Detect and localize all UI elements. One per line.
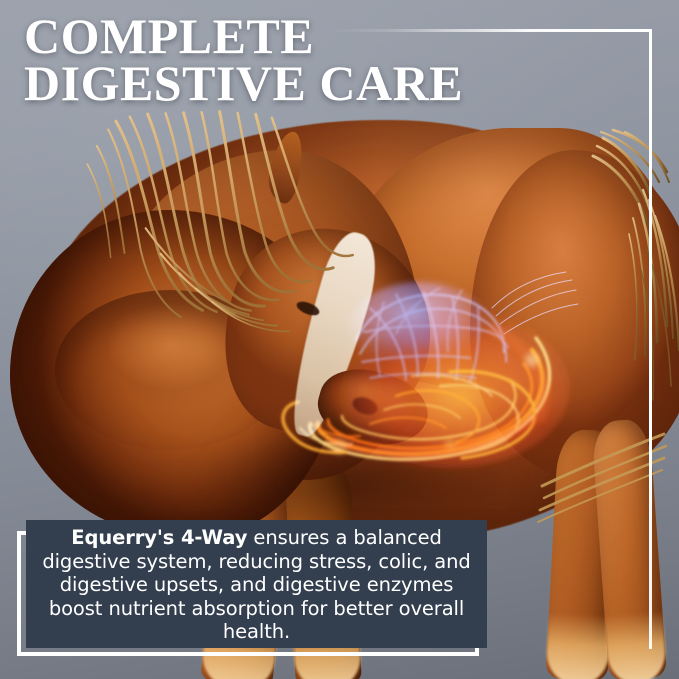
page-title-line-2: DIGESTIVE CARE bbox=[24, 60, 584, 107]
advertisement-canvas: COMPLETE DIGESTIVE CARE Equerry's 4-Way … bbox=[0, 0, 679, 679]
page-title-line-1: COMPLETE bbox=[24, 13, 584, 60]
brand-name: Equerry's 4-Way bbox=[71, 526, 247, 549]
right-accent-rule bbox=[649, 29, 652, 649]
page-title: COMPLETE DIGESTIVE CARE bbox=[24, 13, 584, 107]
callout-text: Equerry's 4-Way ensures a balanced diges… bbox=[40, 526, 473, 644]
digestive-tract-overlay bbox=[300, 268, 580, 483]
hoof-feathering bbox=[545, 612, 611, 679]
horse-tail bbox=[585, 130, 679, 430]
callout-box: Equerry's 4-Way ensures a balanced diges… bbox=[26, 520, 487, 648]
hoof-feathering bbox=[605, 611, 668, 679]
